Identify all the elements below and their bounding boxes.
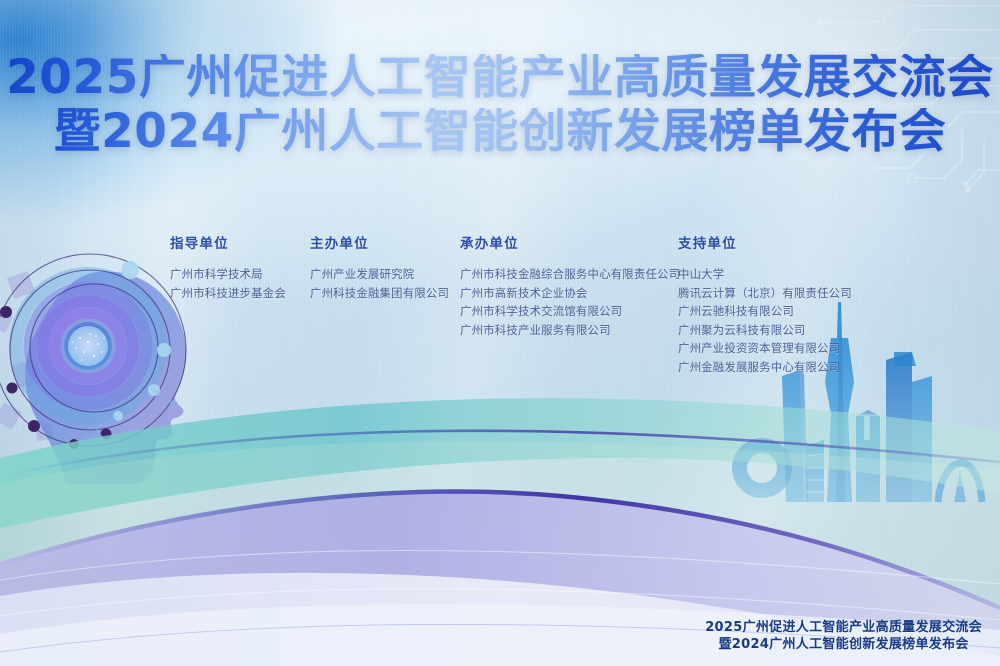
event-title: 2025广州促进人工智能产业高质量发展交流会 暨2024广州人工智能创新发展榜单…	[0, 54, 1000, 157]
unit-item: 广州聚为云科技有限公司	[678, 321, 852, 340]
title-line-secondary: 暨2024广州人工智能创新发展榜单发布会	[0, 108, 1000, 156]
unit-item: 广州产业投资资本管理有限公司	[678, 339, 852, 358]
unit-item: 广州市科技产业服务有限公司	[460, 321, 680, 340]
watermark-line-2: 暨2024广州人工智能创新发展榜单发布会	[705, 636, 982, 654]
unit-item: 广州市高新技术企业协会	[460, 284, 680, 303]
unit-heading: 指导单位	[170, 232, 286, 252]
corner-watermark: 2025广州促进人工智能产业高质量发展交流会 暨2024广州人工智能创新发展榜单…	[705, 619, 982, 654]
unit-heading: 支持单位	[678, 232, 852, 252]
unit-heading: 承办单位	[460, 232, 680, 252]
unit-item: 广州产业发展研究院	[310, 265, 449, 284]
unit-column-support: 支持单位 中山大学 腾讯云计算（北京）有限责任公司 广州云驰科技有限公司 广州聚…	[678, 232, 852, 376]
unit-column-organizer: 承办单位 广州市科技金融综合服务中心有限责任公司 广州市高新技术企业协会 广州市…	[460, 232, 680, 339]
unit-item: 腾讯云计算（北京）有限责任公司	[678, 284, 852, 303]
title-line-primary: 2025广州促进人工智能产业高质量发展交流会	[0, 54, 1000, 102]
unit-item: 广州云驰科技有限公司	[678, 302, 852, 321]
event-banner-stage: 2025广州促进人工智能产业高质量发展交流会 暨2024广州人工智能创新发展榜单…	[0, 0, 1000, 666]
unit-item: 广州市科学技术局	[170, 265, 286, 284]
unit-item: 广州金融发展服务中心有限公司	[678, 358, 852, 377]
unit-item: 中山大学	[678, 265, 852, 284]
unit-item: 广州市科技金融综合服务中心有限责任公司	[460, 265, 680, 284]
unit-column-guidance: 指导单位 广州市科学技术局 广州市科技进步基金会	[170, 232, 286, 302]
unit-heading: 主办单位	[310, 232, 449, 252]
watermark-line-1: 2025广州促进人工智能产业高质量发展交流会	[705, 619, 982, 637]
unit-item: 广州科技金融集团有限公司	[310, 284, 449, 303]
unit-item: 广州市科学技术交流馆有限公司	[460, 302, 680, 321]
unit-item: 广州市科技进步基金会	[170, 284, 286, 303]
unit-column-host: 主办单位 广州产业发展研究院 广州科技金融集团有限公司	[310, 232, 449, 302]
